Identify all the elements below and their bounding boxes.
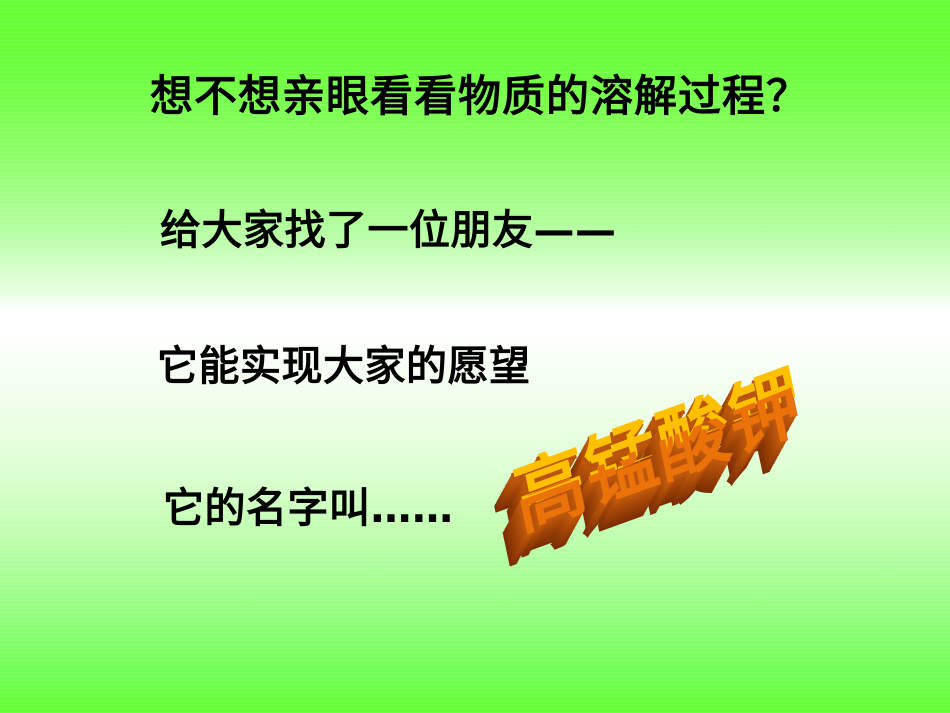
wordart-potassium-permanganate: 高锰酸钾 高锰酸钾 高锰酸钾 高锰酸钾 <box>497 392 857 607</box>
slide-body-line-1: 给大家找了一位朋友—— <box>160 210 617 251</box>
presentation-slide: 想不想亲眼看看物质的溶解过程？ 给大家找了一位朋友—— 它能实现大家的愿望 它的… <box>0 0 950 713</box>
wordart-3d-stack: 高锰酸钾 高锰酸钾 高锰酸钾 高锰酸钾 <box>497 392 857 607</box>
slide-body-line-3: 它的名字叫…… <box>163 488 454 529</box>
slide-title: 想不想亲眼看看物质的溶解过程？ <box>150 76 810 119</box>
slide-body-line-2: 它能实现大家的愿望 <box>157 346 531 387</box>
